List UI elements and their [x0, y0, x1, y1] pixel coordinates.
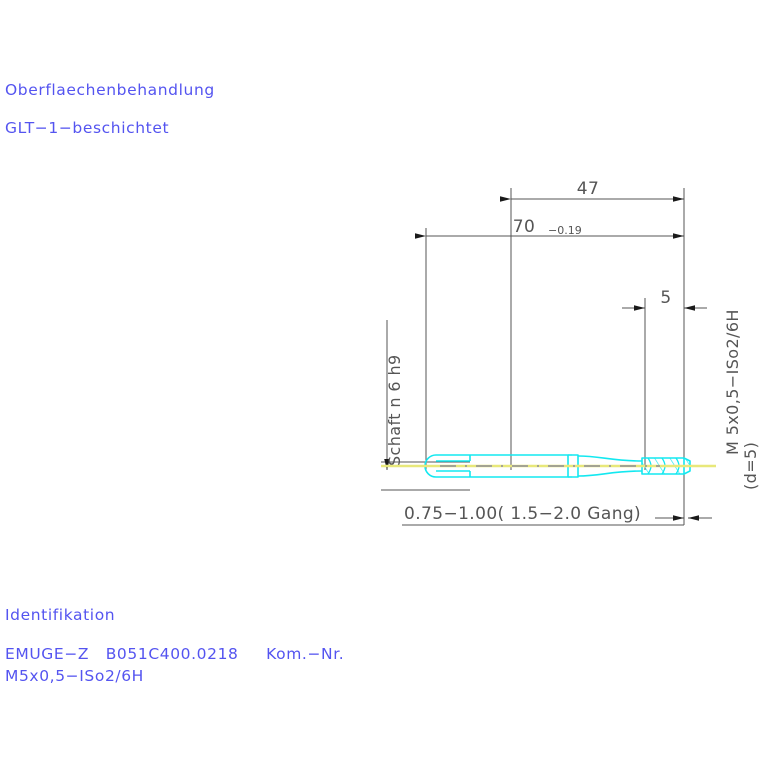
dimension-47-label: 47: [577, 179, 599, 199]
dimension-chamfer: 0.75−1.00( 1.5−2.0 Gang): [402, 504, 712, 525]
extension-lines: [381, 188, 684, 525]
drawing-canvas: Oberflaechenbehandlung GLT−1−beschichtet…: [0, 0, 767, 767]
dimension-shank-diameter: Schaft n 6 h9: [385, 320, 404, 470]
tap-tool-drawing: 47 70 −0.19 5 Schaft n 6 h9 M 5x0,5−ISo2…: [0, 0, 767, 767]
thread-spec-label: M 5x0,5−ISo2/6H: [723, 309, 742, 455]
dimension-70-tolerance: −0.19: [548, 224, 582, 237]
dimension-shank-label: Schaft n 6 h9: [385, 354, 404, 466]
chamfer-label: 0.75−1.00( 1.5−2.0 Gang): [404, 504, 641, 524]
dimension-thread-spec: M 5x0,5−ISo2/6H (d=5): [723, 309, 760, 490]
dimension-5-label: 5: [660, 288, 671, 308]
thread-diameter-label: (d=5): [741, 442, 760, 490]
dimension-5: 5: [622, 288, 707, 308]
dimension-70-label: 70: [513, 217, 535, 237]
dimension-47: 47: [511, 179, 684, 199]
dimension-70: 70 −0.19: [426, 217, 684, 237]
